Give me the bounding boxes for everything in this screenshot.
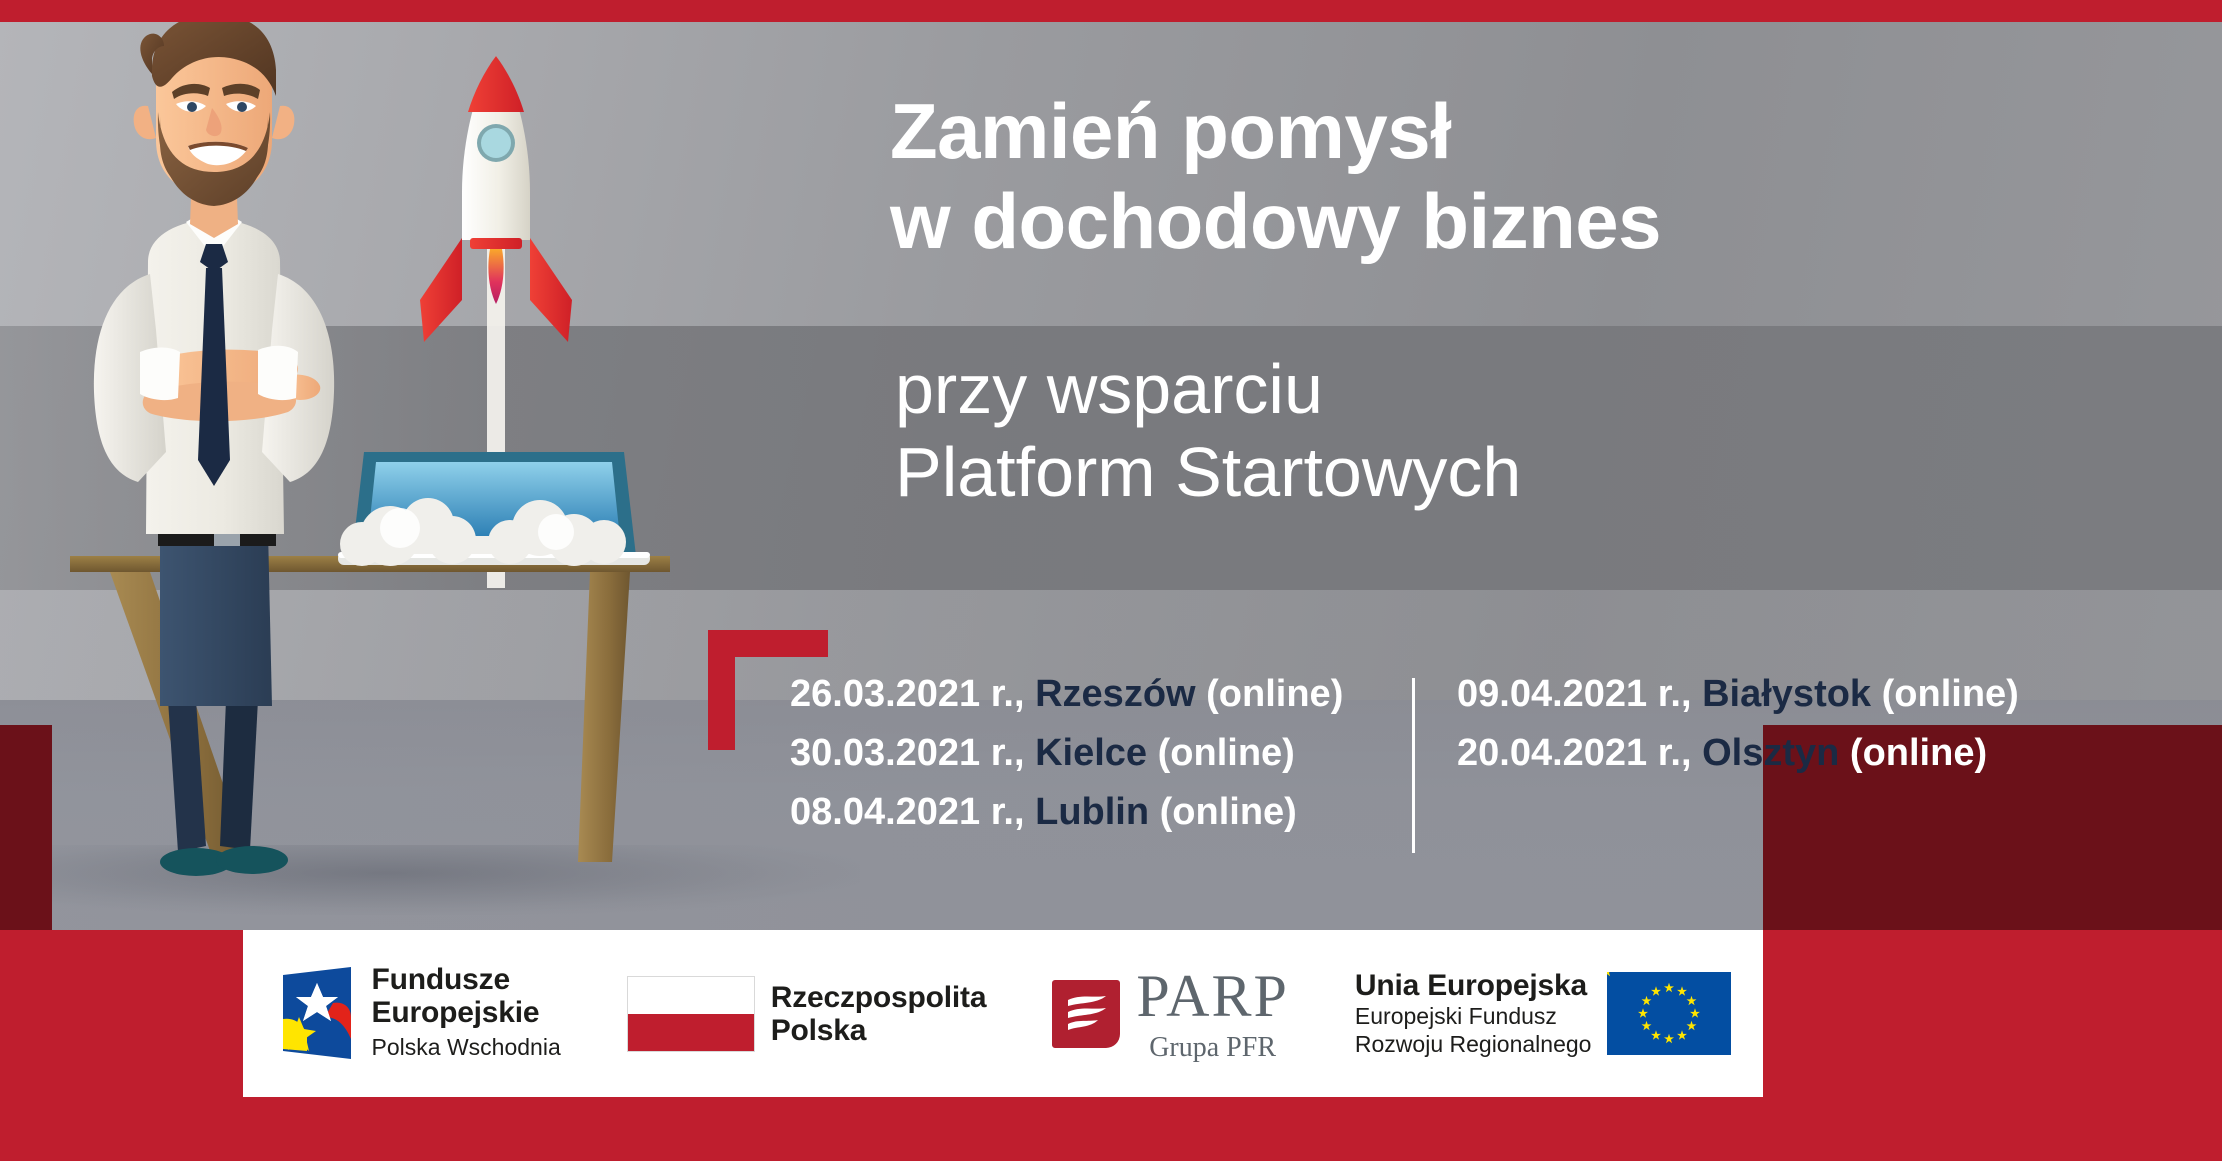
logo-unia-europejska: Unia Europejska Europejski Fundusz Rozwo… (1355, 969, 1732, 1058)
fe-line-2: Europejskie (372, 997, 561, 1029)
subhead-line-1: przy wsparciu (895, 350, 1323, 428)
event-mode: (online) (1839, 732, 1987, 774)
event-row: 30.03.2021 r., Kielce (online) (790, 731, 1390, 776)
ue-line-3: Rozwoju Regionalnego (1355, 1030, 1592, 1058)
red-bottom-right-block (1763, 930, 2222, 1097)
event-row: 20.04.2021 r., Olsztyn (online) (1457, 731, 2019, 776)
event-row: 26.03.2021 r., Rzeszów (online) (790, 672, 1390, 717)
flag-white-stripe (628, 977, 754, 1014)
ue-line-2: Europejski Fundusz (1355, 1002, 1592, 1030)
event-date: 08.04.2021 r., (790, 791, 1035, 833)
rp-line-2: Polska (771, 1014, 987, 1047)
event-city: Rzeszów (1035, 673, 1195, 715)
bracket-vertical (708, 630, 735, 750)
event-city: Białystok (1702, 673, 1871, 715)
page-title: Zamień pomysł w dochodowy biznes (890, 86, 1661, 267)
parp-icon (1052, 980, 1120, 1048)
fundusze-europejskie-icon (275, 967, 359, 1059)
red-top-bar (0, 0, 2222, 22)
event-city: Lublin (1035, 791, 1149, 833)
parp-waves-glyph (1052, 980, 1120, 1048)
parp-name: PARP (1136, 966, 1289, 1026)
event-mode: (online) (1196, 673, 1344, 715)
event-date: 26.03.2021 r., (790, 673, 1035, 715)
event-dates-left-column: 26.03.2021 r., Rzeszów (online) 30.03.20… (790, 672, 1390, 848)
fe-line-3: Polska Wschodnia (372, 1033, 561, 1063)
logo-parp: PARP Grupa PFR (1052, 966, 1289, 1062)
unia-europejska-wordmark: Unia Europejska Europejski Fundusz Rozwo… (1355, 969, 1592, 1058)
event-row: 08.04.2021 r., Lublin (online) (790, 790, 1390, 835)
event-mode: (online) (1147, 732, 1295, 774)
parp-wordmark: PARP Grupa PFR (1136, 966, 1289, 1062)
event-dates: 26.03.2021 r., Rzeszów (online) 30.03.20… (790, 672, 2019, 853)
fe-line-1: Fundusze (372, 964, 561, 996)
footer-logo-strip: Fundusze Europejskie Polska Wschodnia Rz… (243, 930, 1763, 1097)
headline-line-2: w dochodowy biznes (890, 177, 1661, 265)
ue-line-1: Unia Europejska (1355, 969, 1592, 1002)
hero-illustration (0, 0, 700, 930)
event-dates-right-column: 09.04.2021 r., Białystok (online) 20.04.… (1457, 672, 2019, 790)
event-row: 09.04.2021 r., Białystok (online) (1457, 672, 2019, 717)
column-divider (1412, 678, 1415, 853)
logo-fundusze-europejskie: Fundusze Europejskie Polska Wschodnia (275, 964, 561, 1062)
red-bottom-bar (0, 1097, 2222, 1161)
page-subtitle: przy wsparciu Platform Startowych (895, 348, 1521, 513)
event-city: Olsztyn (1702, 732, 1839, 774)
promo-banner: Zamień pomysł w dochodowy biznes przy ws… (0, 0, 2222, 1161)
event-date: 20.04.2021 r., (1457, 732, 1702, 774)
logo-rzeczpospolita-polska: Rzeczpospolita Polska (627, 976, 987, 1052)
event-date: 30.03.2021 r., (790, 732, 1035, 774)
headline-line-1: Zamień pomysł (890, 87, 1451, 175)
event-mode: (online) (1871, 673, 2019, 715)
event-city: Kielce (1035, 732, 1147, 774)
poland-flag-icon (627, 976, 755, 1052)
flag-red-stripe (628, 1014, 754, 1051)
rzeczpospolita-wordmark: Rzeczpospolita Polska (771, 981, 987, 1047)
event-mode: (online) (1149, 791, 1297, 833)
fundusze-europejskie-wordmark: Fundusze Europejskie Polska Wschodnia (372, 964, 561, 1062)
red-bottom-left-block (0, 930, 243, 1097)
event-date: 09.04.2021 r., (1457, 673, 1702, 715)
rp-line-1: Rzeczpospolita (771, 981, 987, 1014)
parp-subtitle: Grupa PFR (1149, 1034, 1276, 1062)
european-union-flag-icon (1607, 972, 1731, 1055)
subhead-line-2: Platform Startowych (895, 433, 1521, 511)
red-left-accent (0, 725, 52, 930)
